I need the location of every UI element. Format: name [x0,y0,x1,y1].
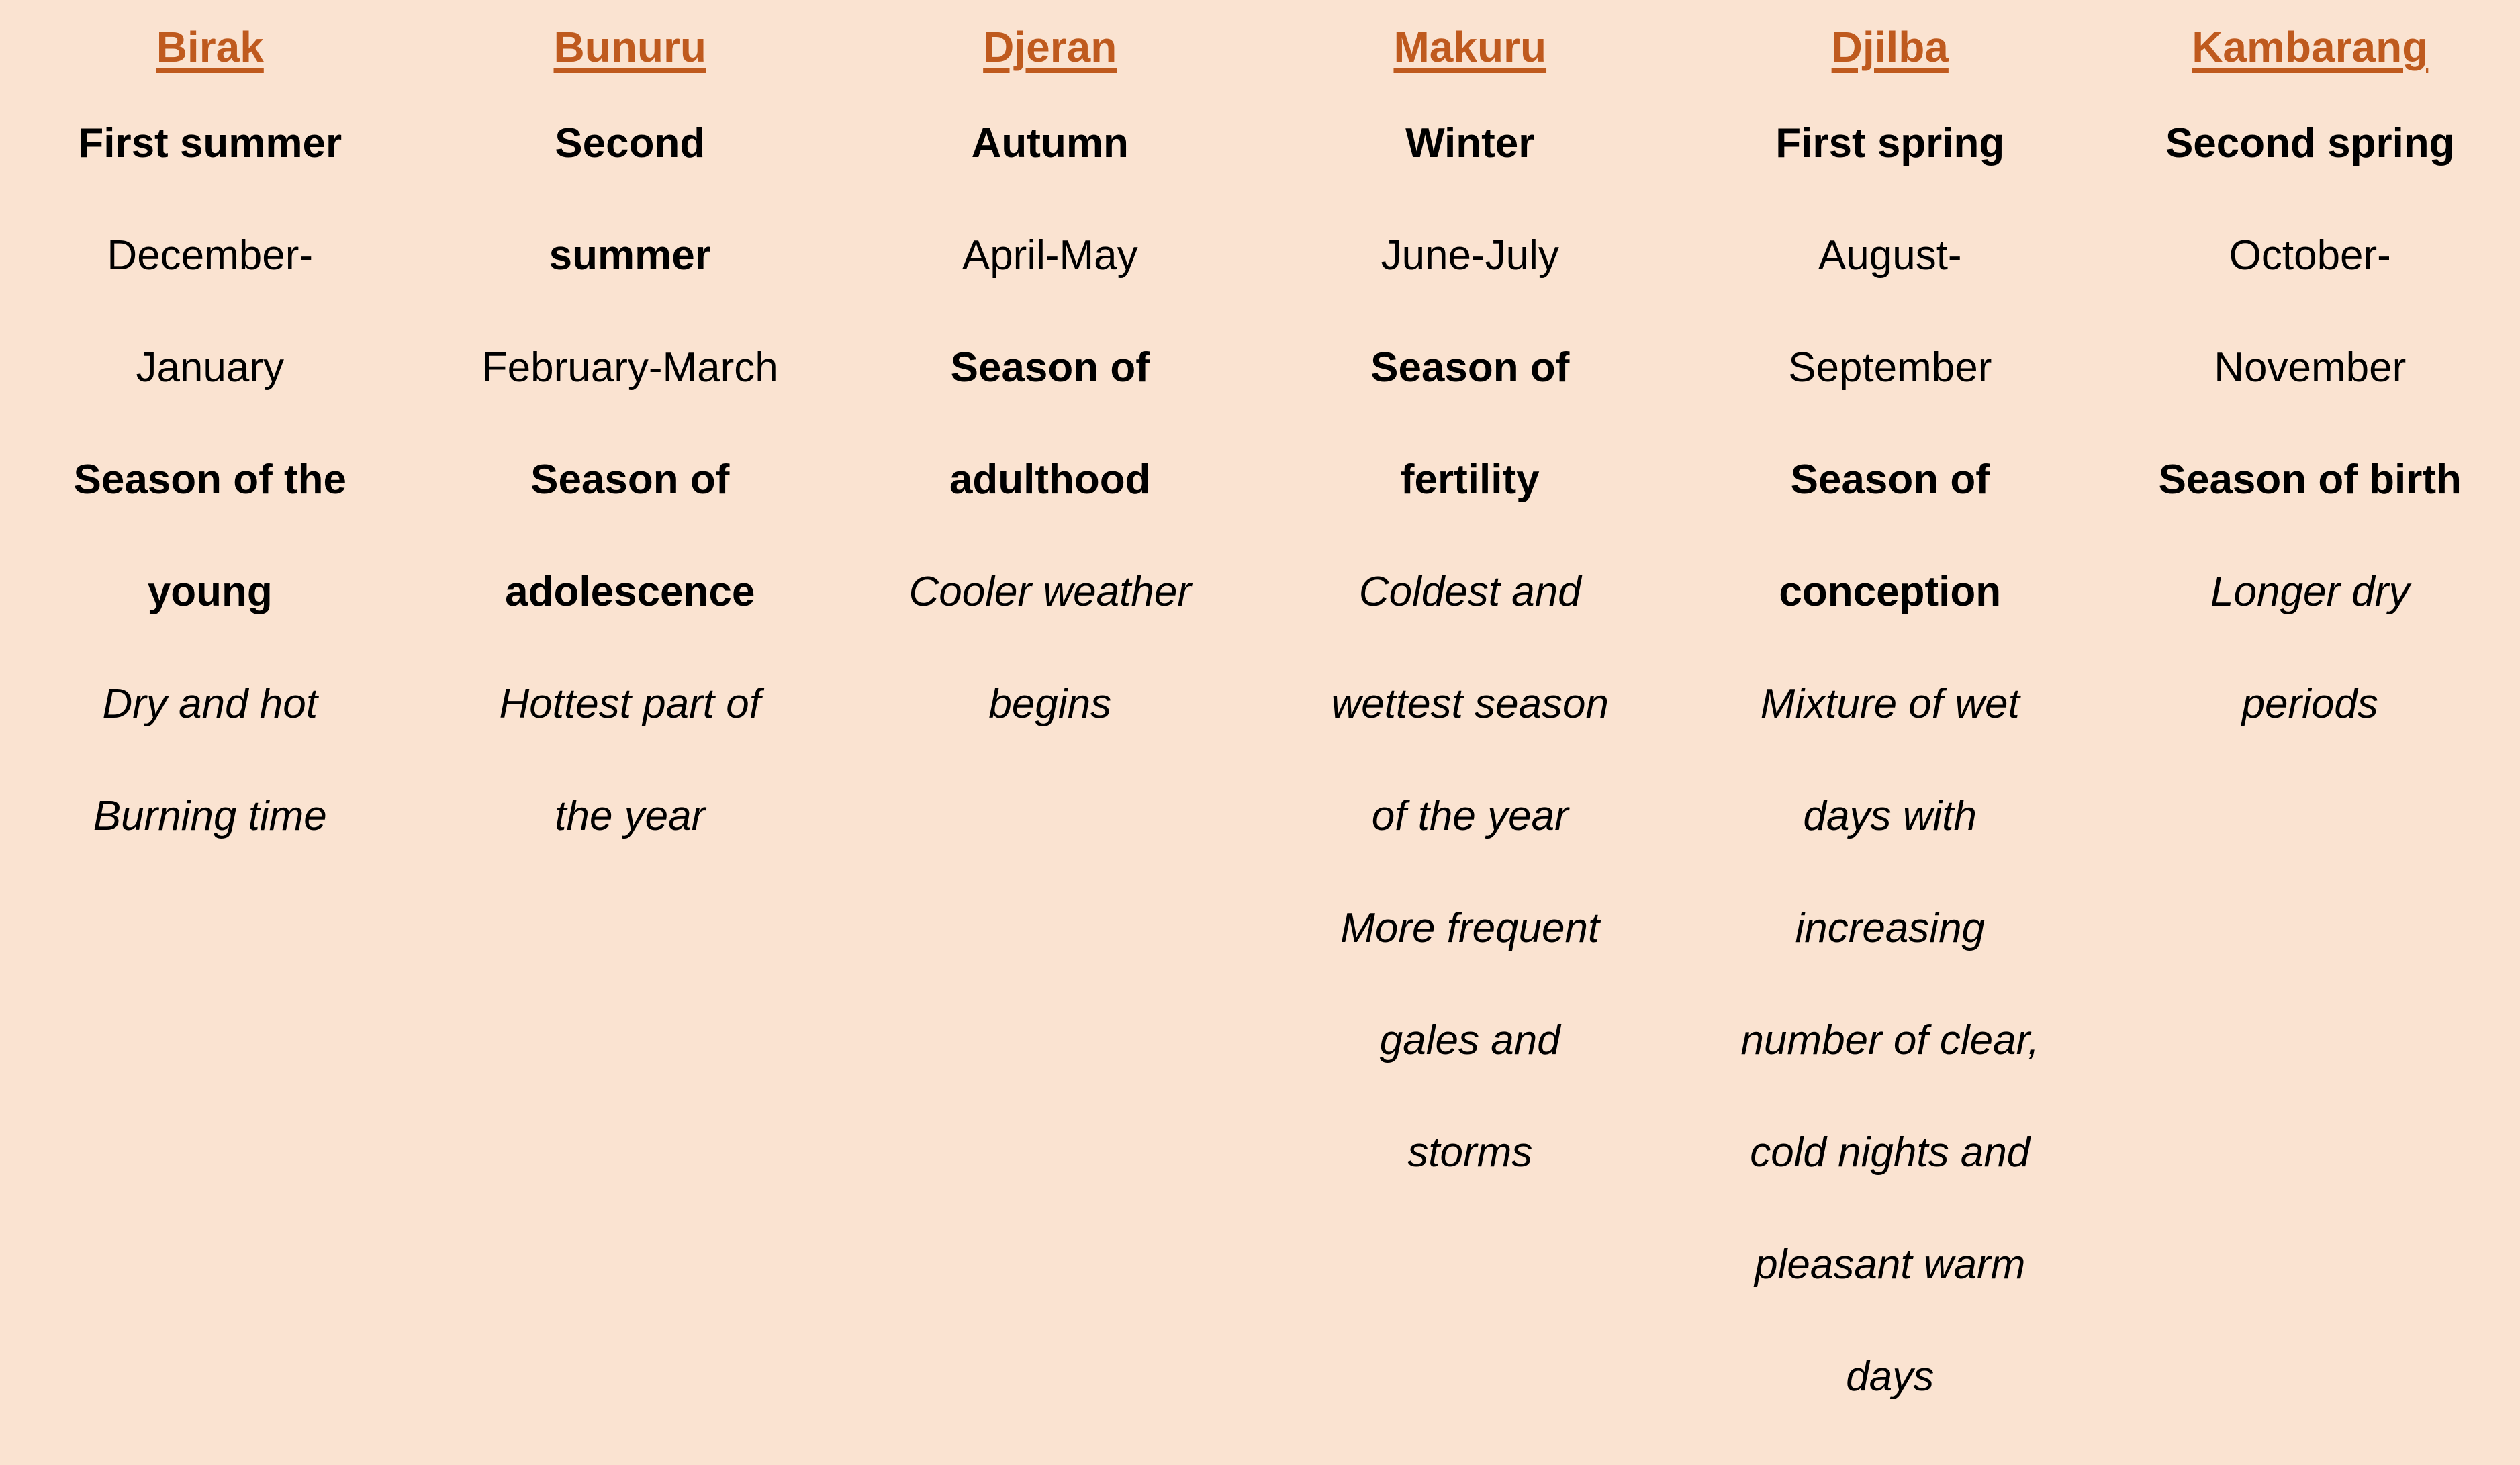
season-column-kambarang: KambarangSecond springOctober-NovemberSe… [2100,7,2520,1465]
season-detail-line: Season of birth [2112,424,2509,536]
season-detail-line: December- [12,199,408,312]
season-detail-line: of the year [1272,760,1669,872]
season-detail-line: young [12,536,408,648]
season-detail-line: Coldest and [1272,536,1669,648]
season-detail-line: January [12,312,408,424]
season-detail-line: Longer dry [2112,536,2509,648]
season-detail-line: First summer [12,87,408,199]
season-detail-line: Season of [1272,312,1669,424]
season-detail-line: begins [852,648,1248,760]
season-detail-line: conception [1692,536,2088,648]
season-detail-line: increasing [1692,872,2088,984]
season-detail-line: periods [2112,648,2509,760]
season-heading-birak[interactable]: Birak [12,7,408,87]
season-detail-line: gales and [1272,984,1669,1096]
season-column-djilba: DjilbaFirst springAugust-SeptemberSeason… [1680,7,2100,1465]
season-detail-line: Season of the [12,424,408,536]
season-detail-line: Season of [1692,424,2088,536]
season-detail-line: Mixture of wet [1692,648,2088,760]
season-detail-line: Season of [852,312,1248,424]
season-column-djeran: DjeranAutumnApril-MaySeason ofadulthoodC… [840,7,1260,1465]
season-detail-line: June-July [1272,199,1669,312]
season-detail-line: fertility [1272,424,1669,536]
season-detail-line: November [2112,312,2509,424]
season-detail-line: Second [432,87,829,199]
season-detail-line: cold nights and [1692,1096,2088,1209]
season-heading-djeran[interactable]: Djeran [852,7,1248,87]
season-detail-line: pleasant warm [1692,1209,2088,1321]
season-detail-line: days [1692,1321,2088,1433]
season-detail-line: Winter [1272,87,1669,199]
season-detail-line: storms [1272,1096,1669,1209]
season-detail-line: September [1692,312,2088,424]
season-detail-line: adulthood [852,424,1248,536]
season-detail-line: Autumn [852,87,1248,199]
season-detail-line: Dry and hot [12,648,408,760]
season-detail-line: April-May [852,199,1248,312]
season-heading-djilba[interactable]: Djilba [1692,7,2088,87]
season-detail-line: Hottest part of [432,648,829,760]
season-column-bunuru: BunuruSecondsummerFebruary-MarchSeason o… [420,7,841,1465]
season-heading-makuru[interactable]: Makuru [1272,7,1669,87]
season-detail-line: Second spring [2112,87,2509,199]
season-detail-line: wettest season [1272,648,1669,760]
season-detail-line: number of clear, [1692,984,2088,1096]
season-detail-line: October- [2112,199,2509,312]
season-detail-line: February-March [432,312,829,424]
seasons-table: BirakFirst summerDecember-JanuarySeason … [0,0,2520,1465]
season-detail-line: Burning time [12,760,408,872]
season-detail-line: Cooler weather [852,536,1248,648]
season-column-birak: BirakFirst summerDecember-JanuarySeason … [0,7,420,1465]
season-heading-kambarang[interactable]: Kambarang [2112,7,2509,87]
season-detail-line: days with [1692,760,2088,872]
season-heading-bunuru[interactable]: Bunuru [432,7,829,87]
season-detail-line: More frequent [1272,872,1669,984]
season-column-makuru: MakuruWinterJune-JulySeason offertilityC… [1260,7,1681,1465]
season-detail-line: the year [432,760,829,872]
season-detail-line: Season of [432,424,829,536]
season-detail-line: First spring [1692,87,2088,199]
season-detail-line: adolescence [432,536,829,648]
season-detail-line: August- [1692,199,2088,312]
season-detail-line: summer [432,199,829,312]
